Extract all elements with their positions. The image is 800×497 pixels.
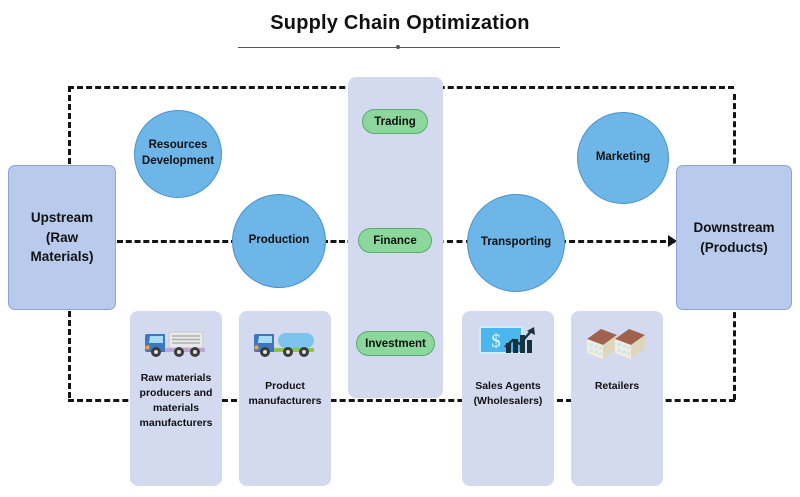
pill-label: Finance xyxy=(373,235,416,247)
downstream-box[interactable]: Downstream (Products) xyxy=(676,165,792,310)
actor-label: Sales Agents (Wholesalers) xyxy=(463,379,553,409)
actor-label-line2: manufacturers xyxy=(249,395,322,407)
flow-line-segment-1 xyxy=(117,240,237,243)
upstream-label-line2: (Raw xyxy=(46,230,78,245)
actor-label-line2: producers and xyxy=(140,387,213,399)
stage-production[interactable]: Production xyxy=(232,194,326,288)
actor-sales-agents[interactable]: $ Sales Agents (Wholesalers) xyxy=(462,311,554,486)
actor-label-line1: Sales Agents xyxy=(475,380,541,392)
actor-label: Retailers xyxy=(572,379,662,394)
flow-line-segment-4 xyxy=(560,240,675,243)
downstream-label-line2: (Products) xyxy=(700,240,768,255)
stage-label-line1: Resources xyxy=(149,139,208,151)
upstream-label-line1: Upstream xyxy=(31,210,93,225)
pill-investment[interactable]: Investment xyxy=(356,331,435,356)
svg-text:$: $ xyxy=(491,331,501,352)
pill-label: Investment xyxy=(365,338,426,350)
actor-label-line3: materials xyxy=(153,402,199,414)
title-underline-tick xyxy=(396,45,400,49)
upstream-box[interactable]: Upstream (Raw Materials) xyxy=(8,165,116,310)
actor-raw-materials-producers[interactable]: Raw materials producers and materials ma… xyxy=(130,311,222,486)
stage-marketing[interactable]: Marketing xyxy=(577,112,669,204)
tanker-truck-icon xyxy=(239,319,331,367)
stage-label: Transporting xyxy=(481,235,551,251)
actor-label-line2: (Wholesalers) xyxy=(474,395,543,407)
actor-label-line1: Retailers xyxy=(595,380,639,392)
upstream-label-line3: Materials) xyxy=(30,249,93,264)
pill-label: Trading xyxy=(374,116,416,128)
delivery-truck-icon xyxy=(130,319,222,367)
actor-label: Product manufacturers xyxy=(240,379,330,409)
diagram-canvas: Supply Chain Optimization Upstream (Raw … xyxy=(0,0,800,497)
money-chart-icon: $ xyxy=(462,319,554,367)
actor-label: Raw materials producers and materials ma… xyxy=(131,371,221,431)
actor-retailers[interactable]: Retailers xyxy=(571,311,663,486)
actor-label-line1: Raw materials xyxy=(141,372,212,384)
page-title: Supply Chain Optimization xyxy=(0,12,800,35)
actor-label-line1: Product xyxy=(265,380,305,392)
stage-label: Production xyxy=(249,233,310,249)
actor-label-line4: manufacturers xyxy=(140,417,213,429)
pill-trading[interactable]: Trading xyxy=(362,109,428,134)
stage-label: Marketing xyxy=(596,150,650,166)
stage-resources-development[interactable]: Resources Development xyxy=(134,110,222,198)
actor-product-manufacturers[interactable]: Product manufacturers xyxy=(239,311,331,486)
buildings-icon xyxy=(571,319,663,367)
pill-finance[interactable]: Finance xyxy=(358,228,432,253)
downstream-label-line1: Downstream xyxy=(693,220,774,235)
stage-transporting[interactable]: Transporting xyxy=(467,194,565,292)
stage-label-line2: Development xyxy=(142,155,214,167)
